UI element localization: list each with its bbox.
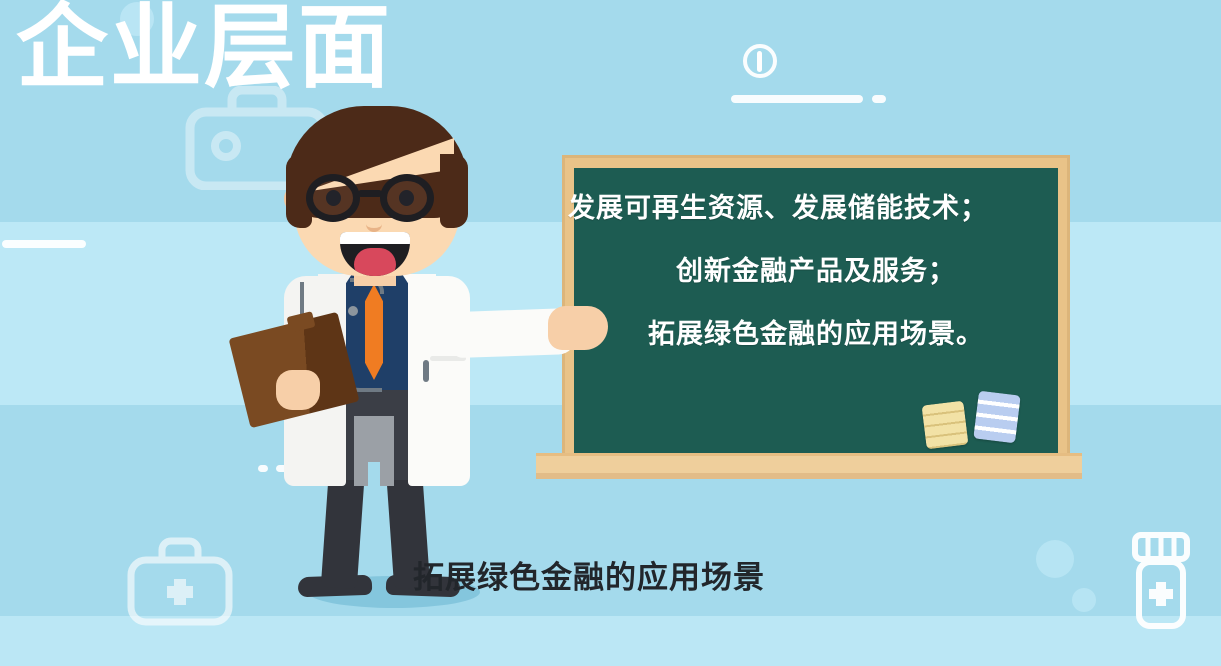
glasses-bridge-icon bbox=[358, 190, 382, 197]
decorative-dash bbox=[2, 240, 86, 248]
slide-caption: 拓展绿色金融的应用场景 bbox=[413, 552, 765, 597]
yellow-sticky-note bbox=[921, 401, 968, 450]
teeth bbox=[340, 232, 410, 244]
left-eye bbox=[326, 190, 341, 206]
decorative-dash bbox=[731, 95, 863, 103]
decorative-dash bbox=[872, 95, 886, 103]
stethoscope-probe-icon bbox=[423, 360, 429, 382]
trousers-gap bbox=[368, 462, 380, 502]
blackboard-line-1: 发展可再生资源、发展储能技术； bbox=[568, 177, 1058, 240]
blackboard-line-3: 拓展绿色金融的应用场景。 bbox=[574, 303, 1058, 366]
hair-side-right bbox=[440, 154, 468, 228]
page-title: 企业层面 bbox=[16, 0, 392, 102]
pill-bottle-icon bbox=[1128, 532, 1194, 632]
decorative-bubble bbox=[1072, 588, 1096, 612]
right-eye bbox=[399, 190, 414, 206]
blackboard-line-2: 创新金融产品及服务； bbox=[574, 240, 1058, 303]
decorative-bubble bbox=[1036, 540, 1074, 578]
lab-coat-right bbox=[408, 276, 470, 486]
thermometer-stem-icon bbox=[757, 51, 762, 72]
blackboard-text: 发展可再生资源、发展储能技术； 创新金融产品及服务； 拓展绿色金融的应用场景。 bbox=[574, 177, 1058, 366]
pointing-hand bbox=[548, 306, 608, 350]
blue-sticky-note bbox=[973, 391, 1021, 444]
stethoscope-clip-icon bbox=[348, 306, 358, 316]
slide-canvas: 企业层面 发展可再生资源、发展储能技术； 创新金融产品及服务； 拓展绿色金融的应… bbox=[0, 0, 1221, 666]
holding-hand bbox=[276, 370, 320, 410]
tongue bbox=[354, 248, 396, 276]
doctor-presenter bbox=[200, 98, 620, 618]
